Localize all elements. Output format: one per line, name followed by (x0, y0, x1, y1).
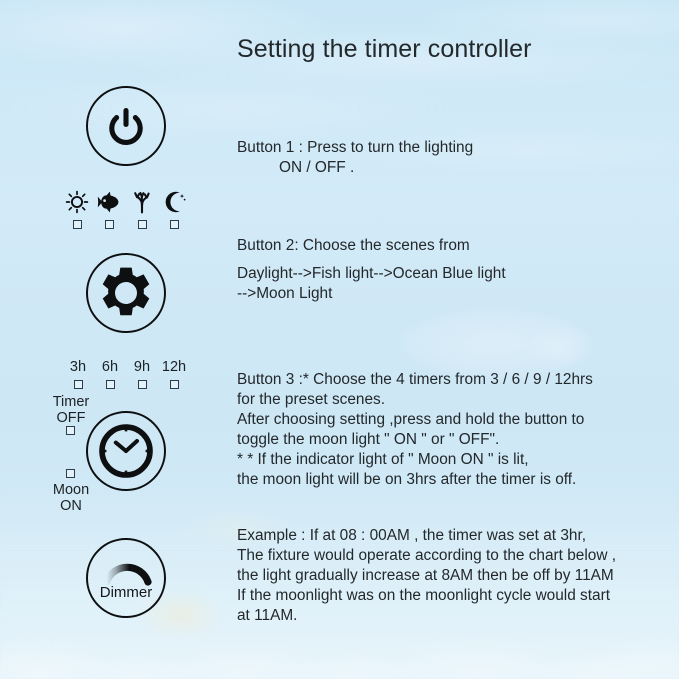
sun-icon (64, 190, 90, 214)
timer-hour-label: 6h (102, 360, 118, 375)
indicator-square-ocean-blue (138, 220, 147, 229)
instruction-graphic: Setting the timer controller (0, 0, 679, 679)
timer-hour-label: 12h (162, 360, 186, 375)
timer-button[interactable] (86, 411, 166, 491)
indicator-square-timer-off (66, 426, 75, 435)
fish-icon (97, 190, 123, 214)
power-icon (104, 104, 148, 148)
indicator-square-moon (170, 220, 179, 229)
moon-on-label: Moon ON (40, 482, 102, 514)
instruction-button1: Button 1 : Press to turn the lighting ON… (237, 118, 473, 198)
dimmer-label: Dimmer (88, 584, 164, 601)
indicator-square-3h (74, 380, 83, 389)
scene-button[interactable] (86, 253, 166, 333)
moon-icon (162, 190, 188, 214)
scene-indicator-daylight[interactable] (64, 190, 90, 229)
scene-indicator-row (64, 190, 188, 229)
instruction-button3: Button 3 :* Choose the 4 timers from 3 /… (237, 370, 593, 490)
timer-hour-label: 9h (134, 360, 150, 375)
indicator-square-fish (105, 220, 114, 229)
instruction-button2-sequence: Daylight-->Fish light-->Ocean Blue light… (237, 264, 506, 304)
coral-icon (129, 190, 155, 214)
scene-indicator-moon[interactable] (162, 190, 188, 229)
timer-hour-label: 3h (70, 360, 86, 375)
scene-indicator-ocean-blue[interactable] (129, 190, 155, 229)
timer-hour-row: 3h 6h 9h 12h (64, 360, 188, 389)
indicator-square-12h (170, 380, 179, 389)
indicator-square-6h (106, 380, 115, 389)
gear-icon (98, 265, 154, 321)
instruction-button1-line2: ON / OFF . (237, 158, 473, 178)
clock-icon (95, 420, 157, 482)
power-button[interactable] (86, 86, 166, 166)
timer-hour-12h[interactable]: 12h (160, 360, 188, 389)
instruction-button2-heading: Button 2: Choose the scenes from (237, 236, 470, 256)
timer-hour-6h[interactable]: 6h (96, 360, 124, 389)
timer-off-label: Timer OFF (40, 394, 102, 426)
page-title: Setting the timer controller (237, 35, 532, 64)
scene-indicator-fish[interactable] (97, 190, 123, 229)
instruction-example: Example : If at 08 : 00AM , the timer wa… (237, 526, 616, 626)
dimmer-button[interactable]: Dimmer (86, 538, 166, 618)
instruction-button1-line1: Button 1 : Press to turn the lighting (237, 139, 473, 156)
indicator-square-9h (138, 380, 147, 389)
timer-hour-9h[interactable]: 9h (128, 360, 156, 389)
indicator-square-moon-on (66, 469, 75, 478)
indicator-square-daylight (73, 220, 82, 229)
timer-hour-3h[interactable]: 3h (64, 360, 92, 389)
